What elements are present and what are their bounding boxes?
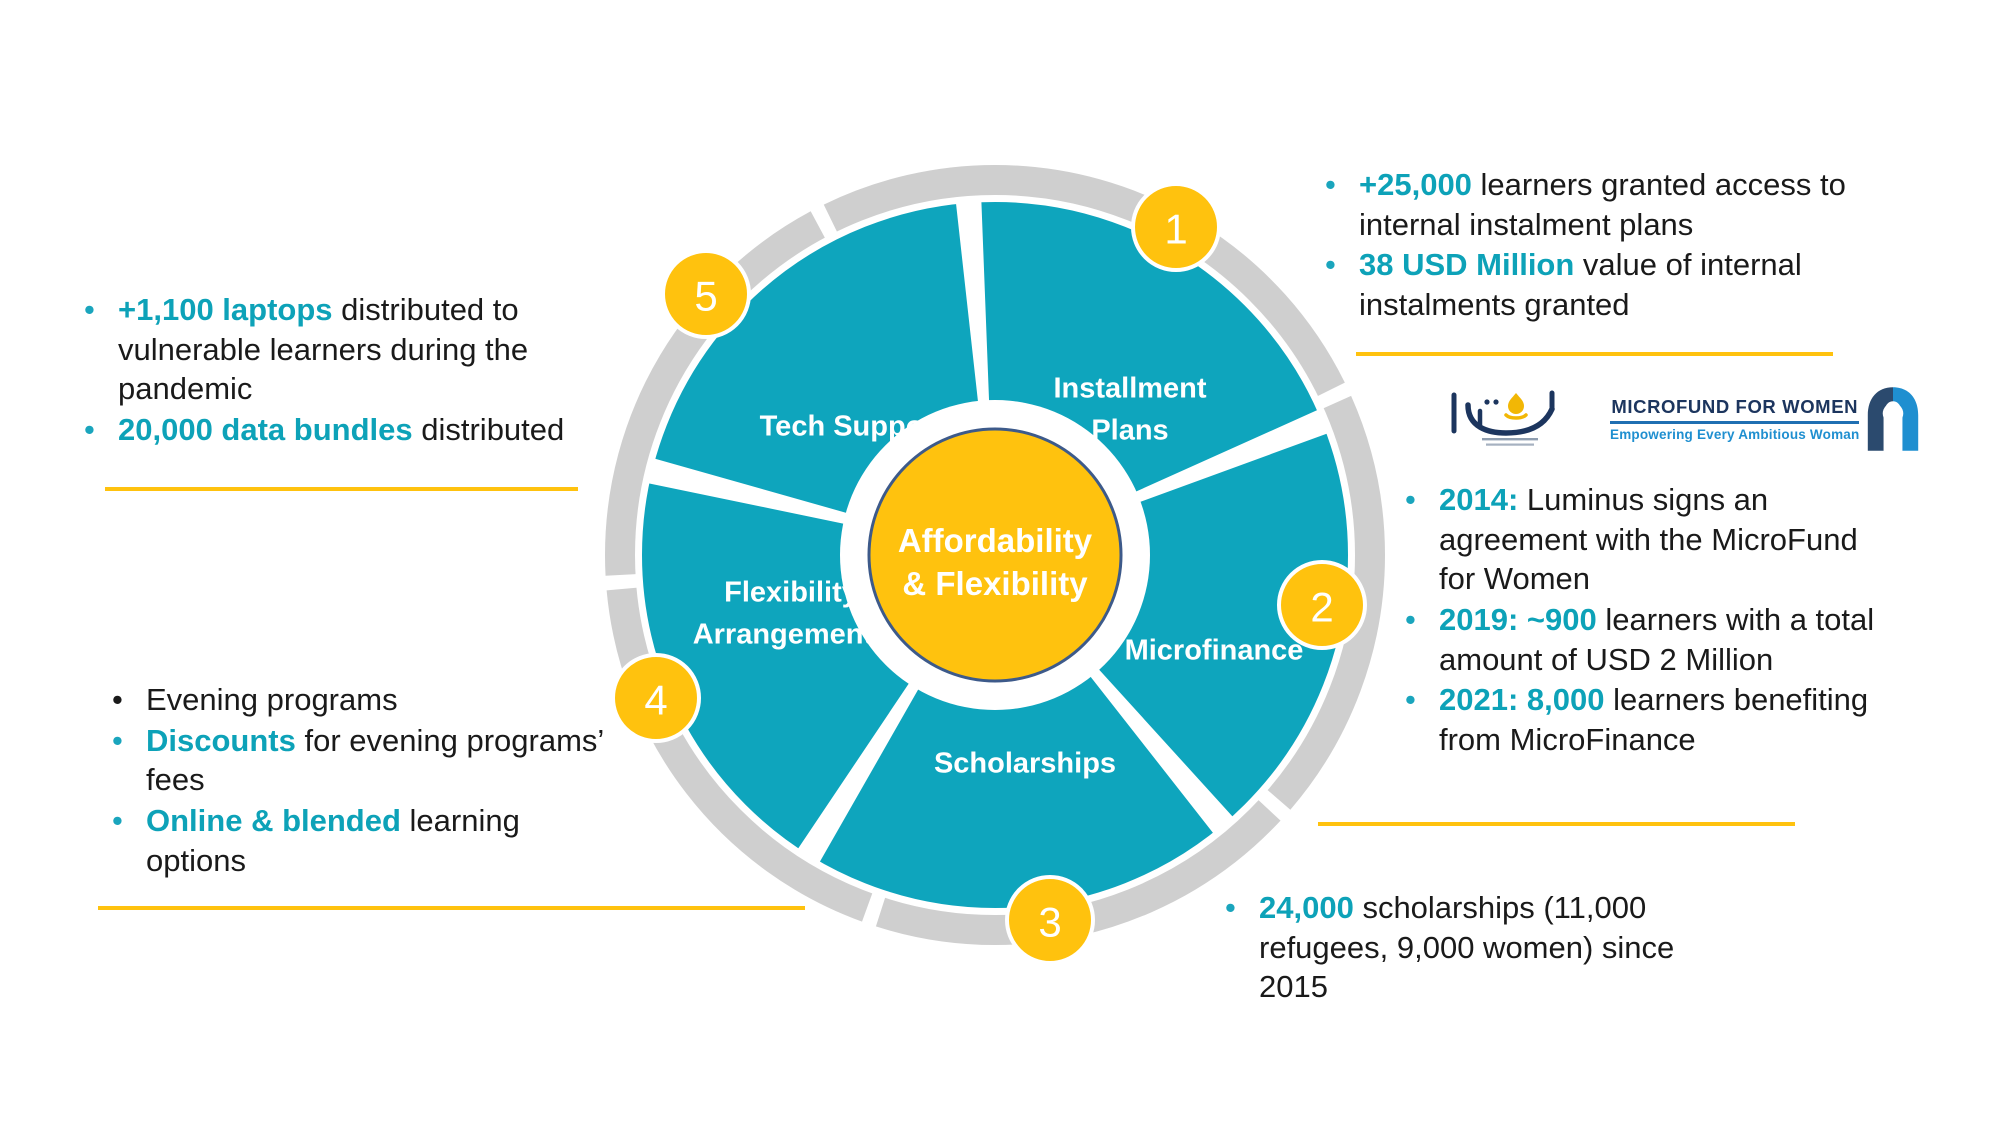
bullet-text: 20,000 data bundles distributed xyxy=(118,410,589,450)
badge-2[interactable]: 2 xyxy=(1279,562,1365,648)
badge-4[interactable]: 4 xyxy=(613,655,699,741)
segment-label-tech-support: Tech Support xyxy=(760,411,945,443)
segment-label-installment-plans-line2: Plans xyxy=(1091,415,1168,447)
segment-label-microfinance: Microfinance xyxy=(1125,635,1304,667)
badge-5-number: 5 xyxy=(694,273,717,320)
segment-label-scholarships: Scholarships xyxy=(934,748,1116,780)
bullet-text: 2014: Luminus signs an agreement with th… xyxy=(1439,480,1875,599)
bullet-dot: • xyxy=(1405,600,1439,640)
bullet-text: Online & blended learning options xyxy=(146,801,612,880)
highlight-value: 38 USD Million xyxy=(1359,247,1574,282)
divider-top-right xyxy=(1356,352,1833,356)
list-item: • 2019: ~900 learners with a total amoun… xyxy=(1405,600,1875,679)
bullet-dot: • xyxy=(1405,680,1439,720)
microfund-tagline: Empowering Every Ambitious Woman xyxy=(1610,427,1859,442)
segment-label-flexibility-line2: Arrangements xyxy=(693,619,890,651)
highlight-value: Online & blended xyxy=(146,803,401,838)
bullet-text: 2021: 8,000 learners benefiting from Mic… xyxy=(1439,680,1875,759)
bullet-dot: • xyxy=(112,801,146,841)
center-label-line2: & Flexibility xyxy=(902,565,1088,602)
callout-bottom-right: • 24,000 scholarships (11,000 refugees, … xyxy=(1225,888,1750,1008)
affordability-flexibility-wheel: Affordability & Flexibility Installment … xyxy=(580,140,1410,970)
microfund-wordmark: MICROFUND FOR WOMEN Empowering Every Amb… xyxy=(1610,396,1859,442)
bullet-dot: • xyxy=(84,290,118,330)
highlight-value: 24,000 xyxy=(1259,890,1354,925)
bullet-dot: • xyxy=(84,410,118,450)
badge-3[interactable]: 3 xyxy=(1007,877,1093,963)
callout-middle-right: • 2014: Luminus signs an agreement with … xyxy=(1405,480,1875,761)
microfund-title: MICROFUND FOR WOMEN xyxy=(1611,396,1858,418)
list-item: • 20,000 data bundles distributed xyxy=(84,410,589,450)
bullet-text: Discounts for evening programs’ fees xyxy=(146,721,612,800)
list-item: • 24,000 scholarships (11,000 refugees, … xyxy=(1225,888,1750,1007)
slide-canvas: Affordability & Flexibility Installment … xyxy=(0,0,2000,1125)
bullet-text: 38 USD Million value of internal instalm… xyxy=(1359,245,1855,324)
badge-5[interactable]: 5 xyxy=(663,251,749,337)
list-item: • +1,100 laptops distributed to vulnerab… xyxy=(84,290,589,409)
flame-icon xyxy=(1508,393,1524,414)
highlight-value: 2021: 8,000 xyxy=(1439,682,1604,717)
bullet-text: 24,000 scholarships (11,000 refugees, 9,… xyxy=(1259,888,1750,1007)
divider-bottom-left xyxy=(98,906,805,910)
badge-2-number: 2 xyxy=(1310,584,1333,631)
bullet-dot: • xyxy=(1225,888,1259,928)
badge-4-number: 4 xyxy=(644,677,667,724)
badge-3-number: 3 xyxy=(1038,899,1061,946)
list-item: • Evening programs xyxy=(112,680,612,720)
badge-1-number: 1 xyxy=(1164,206,1187,253)
list-item: • Discounts for evening programs’ fees xyxy=(112,721,612,800)
highlight-value: 2014: xyxy=(1439,482,1518,517)
list-item: • Online & blended learning options xyxy=(112,801,612,880)
bullet-dot: • xyxy=(1325,245,1359,285)
divider-top-left xyxy=(105,487,578,491)
highlight-value: +1,100 laptops xyxy=(118,292,333,327)
list-item: • 2021: 8,000 learners benefiting from M… xyxy=(1405,680,1875,759)
bullet-text: Evening programs xyxy=(146,680,612,720)
divider-bottom-right xyxy=(1318,822,1795,826)
bullet-dot: • xyxy=(1325,165,1359,205)
bullet-dot: • xyxy=(112,680,146,720)
highlight-value: 20,000 data bundles xyxy=(118,412,413,447)
callout-top-right: • +25,000 learners granted access to int… xyxy=(1325,165,1855,326)
list-item: • 38 USD Million value of internal insta… xyxy=(1325,245,1855,324)
bullet-rest: Evening programs xyxy=(146,682,398,717)
badge-1[interactable]: 1 xyxy=(1133,184,1219,270)
bullet-text: +1,100 laptops distributed to vulnerable… xyxy=(118,290,589,409)
enmaa-logo xyxy=(1440,385,1572,453)
bullet-text: 2019: ~900 learners with a total amount … xyxy=(1439,600,1875,679)
bullet-rest: distributed xyxy=(413,412,565,447)
list-item: • 2014: Luminus signs an agreement with … xyxy=(1405,480,1875,599)
bullet-text: +25,000 learners granted access to inter… xyxy=(1359,165,1855,244)
segment-label-installment-plans-line1: Installment xyxy=(1053,373,1206,405)
enmaa-logo-mark xyxy=(1440,385,1572,453)
list-item: • +25,000 learners granted access to int… xyxy=(1325,165,1855,244)
woman-figure-icon xyxy=(1865,385,1921,453)
callout-bottom-left: • Evening programs • Discounts for eveni… xyxy=(112,680,612,881)
microfund-rule xyxy=(1610,421,1859,424)
bullet-dot: • xyxy=(112,721,146,761)
highlight-value: 2019: ~900 xyxy=(1439,602,1597,637)
center-label-line1: Affordability xyxy=(898,522,1093,559)
callout-top-left: • +1,100 laptops distributed to vulnerab… xyxy=(84,290,589,451)
highlight-value: +25,000 xyxy=(1359,167,1472,202)
highlight-value: Discounts xyxy=(146,723,296,758)
segment-label-flexibility-line1: Flexibility xyxy=(724,577,858,609)
bullet-dot: • xyxy=(1405,480,1439,520)
partner-logos: MICROFUND FOR WOMEN Empowering Every Amb… xyxy=(1440,385,1921,453)
microfund-for-women-logo: MICROFUND FOR WOMEN Empowering Every Amb… xyxy=(1610,385,1921,453)
